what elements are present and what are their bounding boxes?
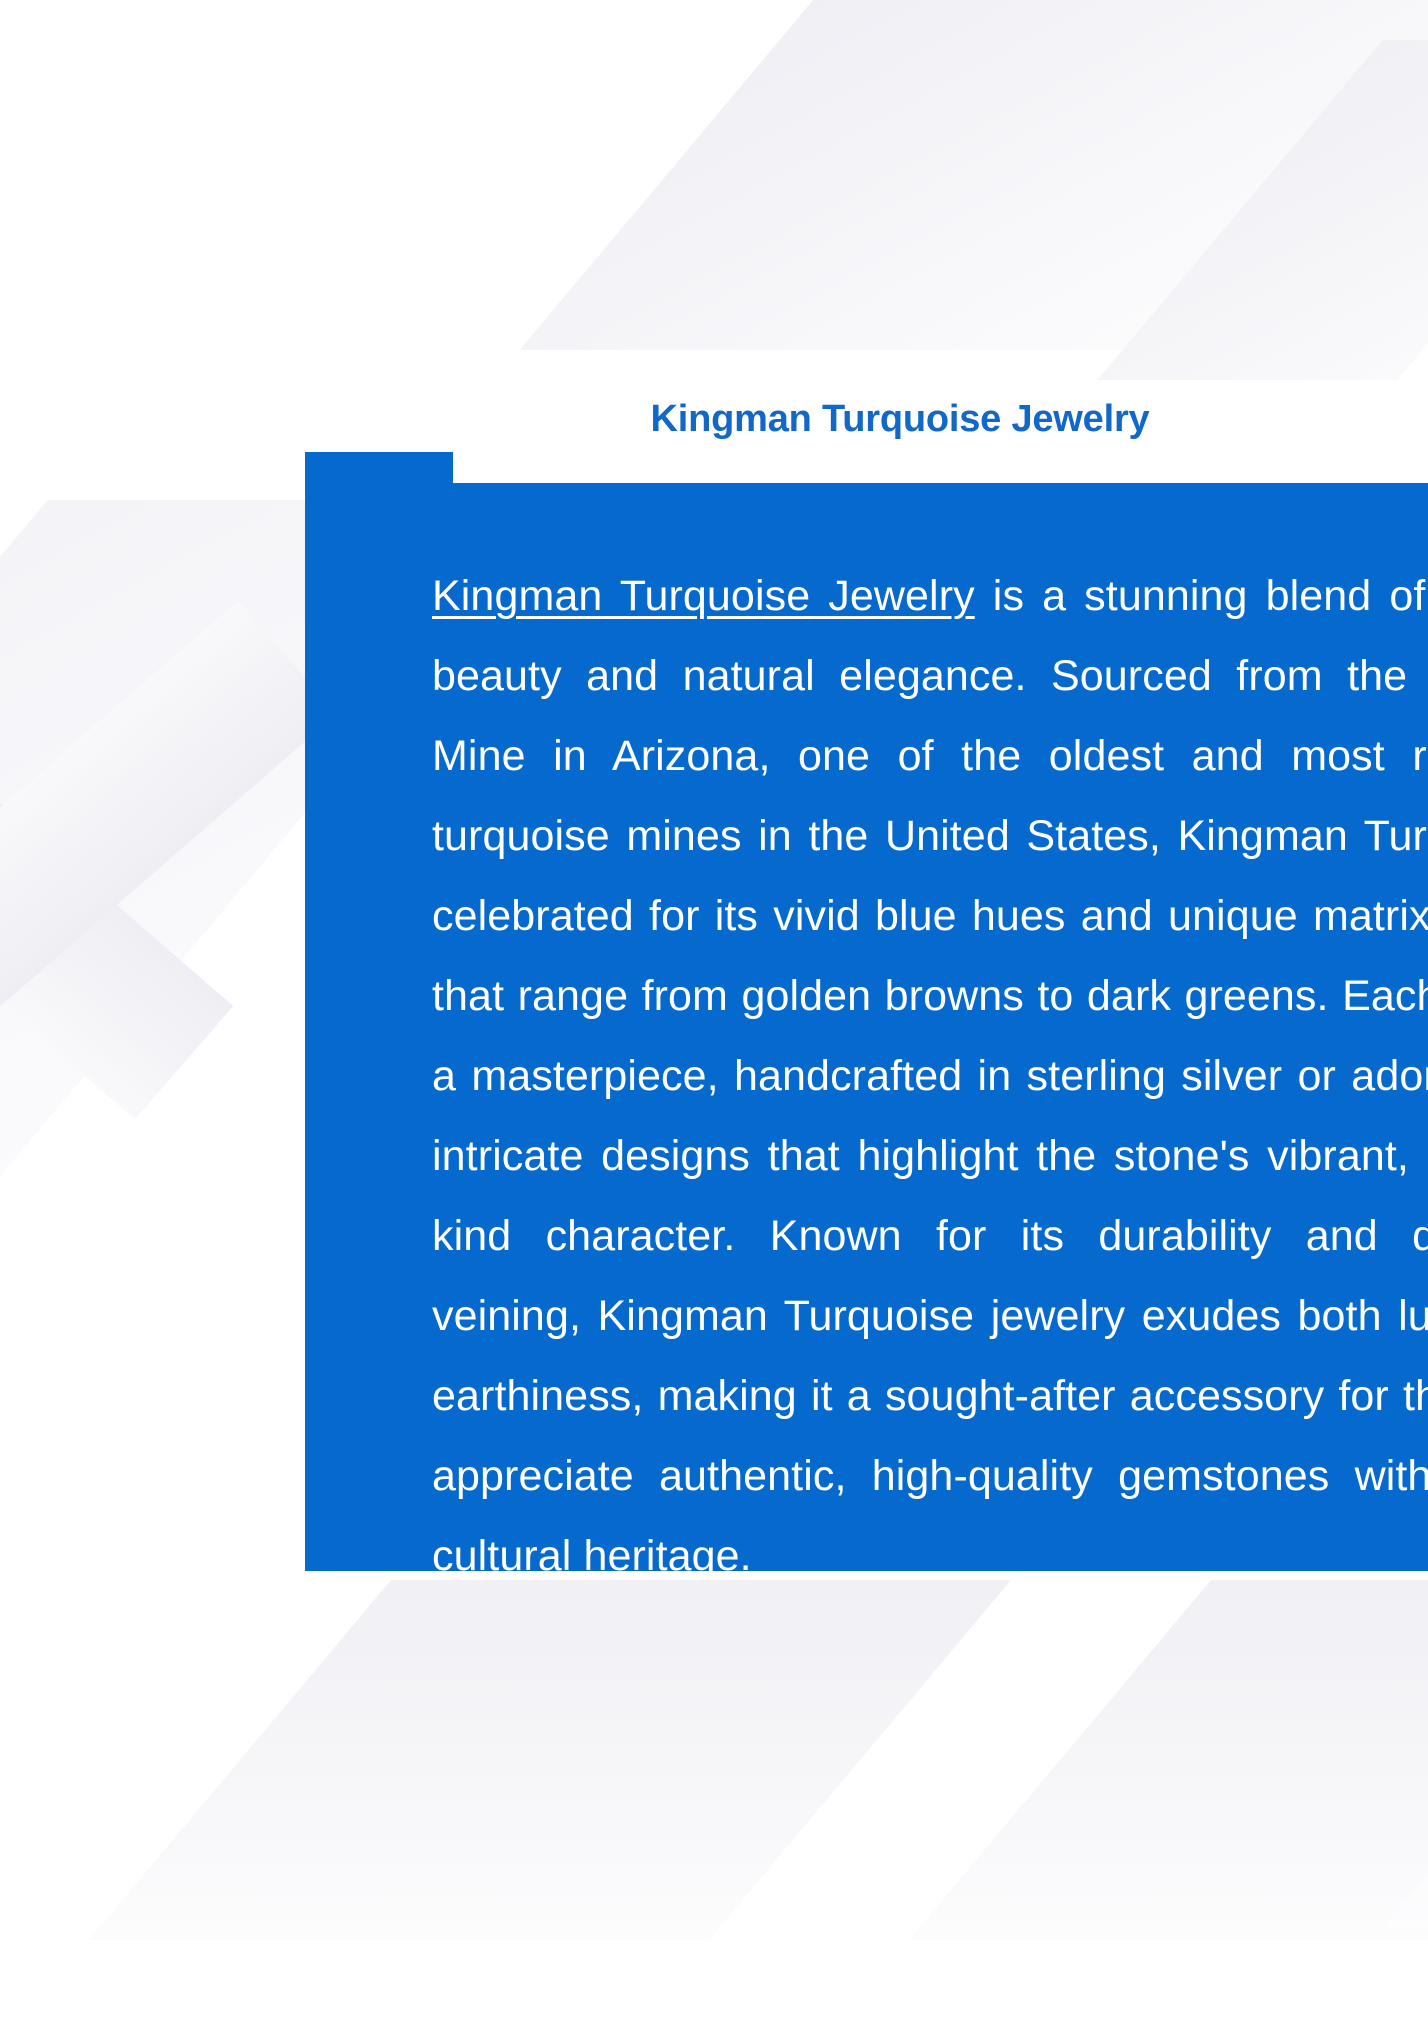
decor-shape-left-chevron-upper — [0, 560, 233, 1119]
decor-shape-bottom-left-parallelogram — [89, 1580, 1011, 1940]
decor-shape-top-right-parallelogram — [520, 0, 1428, 350]
panel-body-remainder: is a stunning blend of timeless beauty a… — [432, 572, 1428, 1580]
decor-shape-left-chevron-lower — [0, 601, 337, 1173]
decor-shape-top-right-sliver — [1097, 40, 1428, 380]
decor-shape-bottom-right-parallelogram — [909, 1580, 1428, 1940]
page-title: Kingman Turquoise Jewelry — [0, 398, 1428, 441]
content-panel-notch — [453, 452, 1428, 483]
panel-body-text: Kingman Turquoise Jewelry is a stunning … — [432, 556, 1428, 1596]
decor-shape-bottom-right-sliver — [1382, 1600, 1428, 1930]
kingman-turquoise-jewelry-link[interactable]: Kingman Turquoise Jewelry — [432, 572, 975, 620]
page-root: Kingman Turquoise Jewelry Kingman Turquo… — [0, 0, 1428, 2018]
